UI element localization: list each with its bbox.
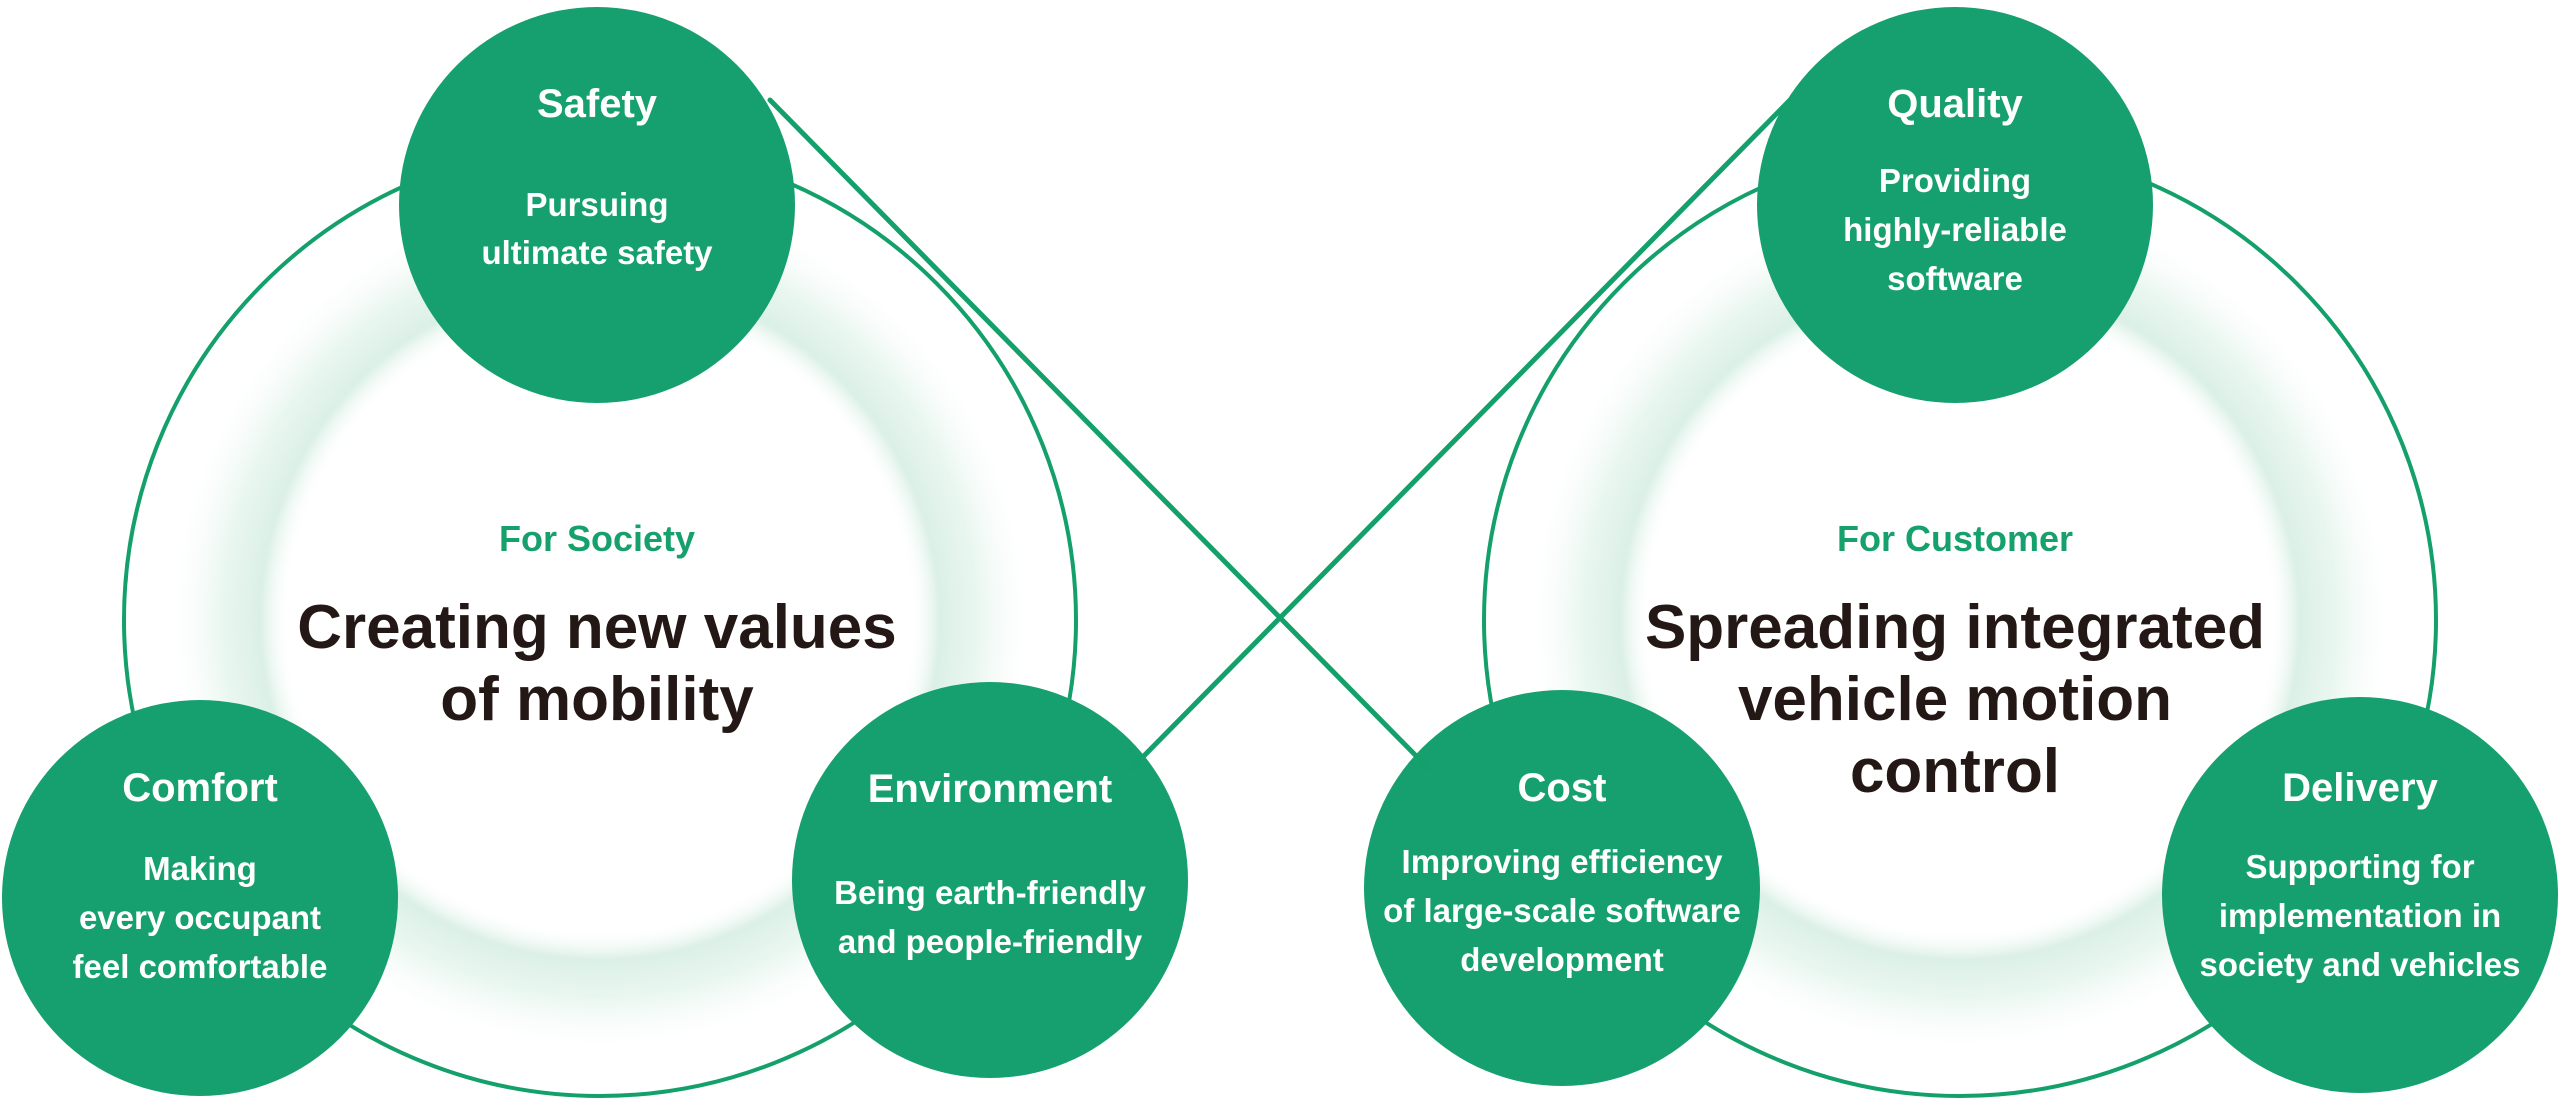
safety-title: Safety [537,82,658,126]
environment-desc-line-1: Being earth-friendly [834,874,1146,911]
diagram-canvas: Safety Pursuing ultimate safety Comfort … [0,0,2560,1104]
value-circles-diagram: Safety Pursuing ultimate safety Comfort … [0,0,2560,1104]
node-comfort[interactable]: Comfort Making every occupant feel comfo… [2,700,398,1096]
society-headline-line-1: Creating new values [297,593,897,662]
quality-desc-line-3: software [1887,260,2023,297]
quality-desc-line-1: Providing [1879,162,2031,199]
cost-desc-line-2: of large-scale software [1383,892,1741,929]
quality-circle[interactable] [1757,7,2153,403]
quality-title: Quality [1887,82,2023,126]
comfort-circle[interactable] [2,700,398,1096]
delivery-desc-line-1: Supporting for [2245,848,2474,885]
node-environment[interactable]: Environment Being earth-friendly and peo… [792,682,1188,1078]
society-headline-line-2: of mobility [440,665,754,734]
cost-desc-line-3: development [1460,941,1664,978]
environment-desc-line-2: and people-friendly [838,923,1143,960]
delivery-desc-line-2: implementation in [2219,897,2501,934]
delivery-circle[interactable] [2162,697,2558,1093]
node-safety[interactable]: Safety Pursuing ultimate safety [399,7,795,403]
comfort-desc-line-1: Making [143,850,257,887]
customer-headline-line-2: vehicle motion [1738,665,2172,734]
cost-desc-line-1: Improving efficiency [1402,843,1724,880]
group-customer: Quality Providing highly-reliable softwa… [1364,7,2558,1096]
node-cost[interactable]: Cost Improving efficiency of large-scale… [1364,690,1760,1086]
node-delivery[interactable]: Delivery Supporting for implementation i… [2162,697,2558,1093]
safety-desc-line-2: ultimate safety [481,234,713,271]
delivery-desc-line-3: society and vehicles [2200,946,2521,983]
customer-eyebrow: For Customer [1837,518,2073,559]
node-quality[interactable]: Quality Providing highly-reliable softwa… [1757,7,2153,403]
safety-desc-line-1: Pursuing [525,186,668,223]
group-society: Safety Pursuing ultimate safety Comfort … [2,7,1188,1096]
society-eyebrow: For Society [499,518,695,559]
customer-headline-line-1: Spreading integrated [1645,593,2265,662]
comfort-title: Comfort [122,766,278,810]
cost-title: Cost [1518,766,1607,810]
quality-desc-line-2: highly-reliable [1843,211,2067,248]
comfort-desc-line-2: every occupant [79,899,321,936]
environment-title: Environment [868,767,1112,811]
delivery-title: Delivery [2282,766,2438,810]
comfort-desc-line-3: feel comfortable [73,948,328,985]
customer-headline-line-3: control [1850,737,2060,806]
cost-circle[interactable] [1364,690,1760,1086]
